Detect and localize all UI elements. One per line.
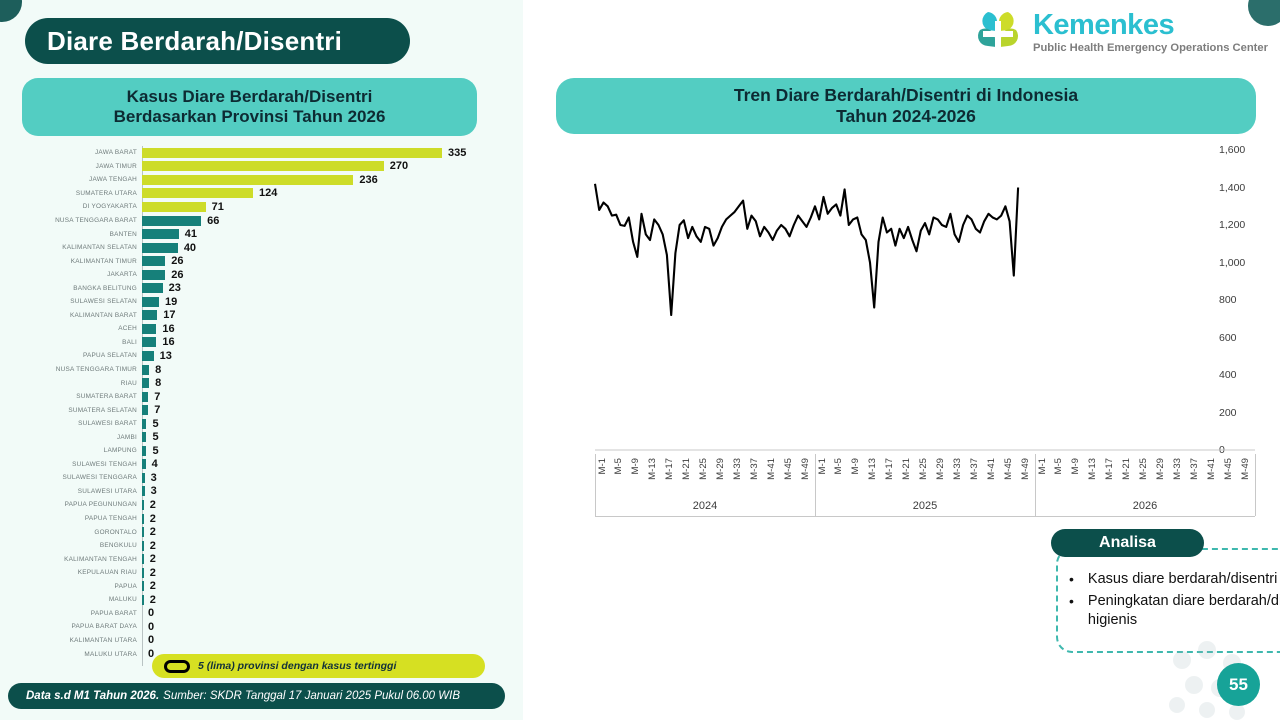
bar-row: SULAWESI UTARA3 — [0, 485, 523, 499]
bar-value-label: 2 — [150, 513, 156, 525]
bar-track: 270 — [142, 160, 523, 174]
x-axis-year-label: 2024 — [595, 500, 815, 512]
analisa-item-text: Kasus diare berdarah/disentri yang terla… — [1088, 570, 1280, 590]
trend-line-path — [595, 184, 1018, 315]
bar-track: 17 — [142, 309, 523, 323]
bar-value-label: 19 — [165, 296, 177, 308]
x-axis-tick-label: M-21 — [901, 458, 912, 480]
bar-fill — [142, 161, 384, 171]
bar-row: KALIMANTAN TIMUR26 — [0, 254, 523, 268]
bar-category-label: SULAWESI BARAT — [0, 420, 142, 427]
bar-fill — [142, 229, 179, 239]
bar-value-label: 7 — [154, 404, 160, 416]
bar-fill — [142, 365, 149, 375]
bar-row: DI YOGYAKARTA71 — [0, 200, 523, 214]
page-number-badge: 55 — [1217, 663, 1260, 706]
decor-circle-top-left — [0, 0, 22, 22]
slide-title-pill: Diare Berdarah/Disentri — [25, 18, 410, 64]
bar-category-label: DI YOGYAKARTA — [0, 203, 142, 210]
x-axis-tick-label: M-29 — [935, 458, 946, 480]
bar-fill — [142, 514, 144, 524]
bar-category-label: PAPUA PEGUNUNGAN — [0, 501, 142, 508]
bar-value-label: 26 — [171, 255, 183, 267]
kemenkes-logo: Kemenkes Public Health Emergency Operati… — [972, 8, 1268, 58]
bar-value-label: 16 — [162, 323, 174, 335]
bar-category-label: PAPUA BARAT DAYA — [0, 623, 142, 630]
logo-name: Kemenkes — [1033, 11, 1268, 40]
bar-track: 8 — [142, 363, 523, 377]
source-normal-text: Sumber: SKDR Tanggal 17 Januari 2025 Puk… — [163, 690, 460, 702]
bar-row: JAWA TENGAH236 — [0, 173, 523, 187]
bar-chart-title-line1: Kasus Diare Berdarah/Disentri — [127, 87, 373, 107]
bar-row: BENGKULU2 — [0, 539, 523, 553]
x-axis-tick-label: M-33 — [732, 458, 743, 480]
x-axis-tick-label: M-45 — [1003, 458, 1014, 480]
bar-fill — [142, 486, 145, 496]
bar-fill — [142, 202, 206, 212]
bar-value-label: 71 — [212, 201, 224, 213]
bar-track: 5 — [142, 417, 523, 431]
x-axis-tick-label: M-25 — [698, 458, 709, 480]
bar-row: SUMATERA SELATAN7 — [0, 403, 523, 417]
bar-category-label: BENGKULU — [0, 542, 142, 549]
bar-row: BALI16 — [0, 336, 523, 350]
bar-category-label: LAMPUNG — [0, 447, 142, 454]
bar-category-label: NUSA TENGGARA BARAT — [0, 217, 142, 224]
analisa-heading-pill: Analisa — [1051, 529, 1204, 557]
bar-fill — [142, 270, 165, 280]
bar-track: 3 — [142, 471, 523, 485]
x-axis-tick-label: M-5 — [1053, 458, 1064, 475]
bar-category-label: GORONTALO — [0, 529, 142, 536]
bar-track: 16 — [142, 336, 523, 350]
bar-value-label: 4 — [152, 458, 158, 470]
bar-track: 2 — [142, 580, 523, 594]
trend-chart-title-pill: Tren Diare Berdarah/Disentri di Indonesi… — [556, 78, 1256, 134]
x-axis-tick-label: M-33 — [952, 458, 963, 480]
bar-row: KALIMANTAN UTARA0 — [0, 634, 523, 648]
bar-value-label: 41 — [185, 228, 197, 240]
bar-category-label: PAPUA — [0, 583, 142, 590]
bar-value-label: 236 — [359, 174, 377, 186]
source-bold-text: Data s.d M1 Tahun 2026. — [26, 690, 159, 702]
bar-value-label: 2 — [150, 580, 156, 592]
trend-chart-title-line1: Tren Diare Berdarah/Disentri di Indonesi… — [734, 85, 1078, 106]
bar-category-label: JAKARTA — [0, 271, 142, 278]
bar-row: JAWA TIMUR270 — [0, 160, 523, 174]
bar-category-label: PAPUA SELATAN — [0, 352, 142, 359]
bar-value-label: 0 — [148, 634, 154, 646]
bar-row: BANTEN41 — [0, 227, 523, 241]
bar-category-label: JAWA BARAT — [0, 149, 142, 156]
bar-row: SULAWESI SELATAN19 — [0, 295, 523, 309]
bar-value-label: 5 — [152, 418, 158, 430]
bar-row: PAPUA PEGUNUNGAN2 — [0, 498, 523, 512]
bar-category-label: MALUKU — [0, 596, 142, 603]
bar-category-label: BANTEN — [0, 231, 142, 238]
bar-fill — [142, 378, 149, 388]
bar-value-label: 13 — [160, 350, 172, 362]
x-axis-tick-label: M-29 — [1155, 458, 1166, 480]
bar-value-label: 66 — [207, 215, 219, 227]
bar-track: 2 — [142, 512, 523, 526]
legend-label: 5 (lima) provinsi dengan kasus tertinggi — [198, 660, 396, 672]
bar-row: ACEH16 — [0, 322, 523, 336]
bar-value-label: 124 — [259, 187, 277, 199]
bar-row: KALIMANTAN BARAT17 — [0, 309, 523, 323]
bar-track: 2 — [142, 539, 523, 553]
bar-category-label: KEPULAUAN RIAU — [0, 569, 142, 576]
x-axis-tick-label: M-49 — [800, 458, 811, 480]
bar-value-label: 2 — [150, 540, 156, 552]
bar-row: GORONTALO2 — [0, 525, 523, 539]
bar-track: 7 — [142, 390, 523, 404]
bar-track: 16 — [142, 322, 523, 336]
legend-swatch-icon — [164, 660, 190, 673]
bar-fill — [142, 310, 157, 320]
bar-track: 26 — [142, 254, 523, 268]
bar-value-label: 8 — [155, 377, 161, 389]
bar-track: 2 — [142, 525, 523, 539]
bar-category-label: BALI — [0, 339, 142, 346]
bar-fill — [142, 595, 144, 605]
bar-category-label: SULAWESI SELATAN — [0, 298, 142, 305]
bar-fill — [142, 541, 144, 551]
bar-fill — [142, 581, 144, 591]
bar-fill — [142, 148, 442, 158]
bar-row: KEPULAUAN RIAU2 — [0, 566, 523, 580]
analisa-item: •Peningkatan diare berdarah/disentri dip… — [1069, 592, 1280, 631]
bar-fill — [142, 527, 144, 537]
bar-value-label: 2 — [150, 594, 156, 606]
bar-category-label: RIAU — [0, 380, 142, 387]
bar-fill — [142, 554, 144, 564]
bar-fill — [142, 243, 178, 253]
bar-value-label: 0 — [148, 621, 154, 633]
bar-fill — [142, 216, 201, 226]
bar-category-label: PAPUA TENGAH — [0, 515, 142, 522]
bar-row: MALUKU2 — [0, 593, 523, 607]
x-axis-tick-label: M-13 — [1087, 458, 1098, 480]
bar-fill — [142, 175, 353, 185]
bar-fill — [142, 405, 148, 415]
bar-category-label: ACEH — [0, 325, 142, 332]
bar-row: BANGKA BELITUNG23 — [0, 281, 523, 295]
x-axis-group-separator — [595, 454, 596, 516]
bar-fill — [142, 297, 159, 307]
analisa-item: •Kasus diare berdarah/disentri yang terl… — [1069, 570, 1280, 590]
bar-value-label: 5 — [152, 445, 158, 457]
x-axis-tick-label: M-17 — [664, 458, 675, 480]
x-axis-tick-label: M-5 — [833, 458, 844, 475]
bar-track: 124 — [142, 187, 523, 201]
x-axis-tick-label: M-9 — [630, 458, 641, 475]
bar-row: JAMBI5 — [0, 430, 523, 444]
bar-row: KALIMANTAN TENGAH2 — [0, 552, 523, 566]
bar-track: 19 — [142, 295, 523, 309]
bar-fill — [142, 432, 146, 442]
bar-track: 5 — [142, 444, 523, 458]
x-axis-tick-label: M-49 — [1240, 458, 1251, 480]
bar-chart-legend: 5 (lima) provinsi dengan kasus tertinggi — [152, 654, 485, 678]
bar-fill — [142, 459, 146, 469]
province-bar-chart: JAWA BARAT335JAWA TIMUR270JAWA TENGAH236… — [0, 146, 523, 666]
bar-fill — [142, 446, 146, 456]
bar-track: 335 — [142, 146, 523, 160]
bar-track: 40 — [142, 241, 523, 255]
x-axis-tick-label: M-5 — [613, 458, 624, 475]
bar-value-label: 2 — [150, 526, 156, 538]
bar-fill — [142, 419, 146, 429]
bar-row: SULAWESI BARAT5 — [0, 417, 523, 431]
bar-fill — [142, 324, 156, 334]
bar-row: JAWA BARAT335 — [0, 146, 523, 160]
bar-category-label: KALIMANTAN TENGAH — [0, 556, 142, 563]
bar-row: LAMPUNG5 — [0, 444, 523, 458]
bar-category-label: MALUKU UTARA — [0, 651, 142, 658]
bar-track: 2 — [142, 552, 523, 566]
bar-track: 236 — [142, 173, 523, 187]
bar-fill — [142, 351, 154, 361]
x-axis-tick-label: M-37 — [1189, 458, 1200, 480]
trend-line-chart: 02004006008001,0001,2001,4001,600M-1M-5M… — [533, 140, 1273, 515]
x-axis-tick-label: M-21 — [1121, 458, 1132, 480]
bar-fill — [142, 500, 144, 510]
bar-fill — [142, 473, 145, 483]
bar-category-label: SULAWESI TENGAH — [0, 461, 142, 468]
bar-track: 2 — [142, 498, 523, 512]
bar-track: 0 — [142, 607, 523, 621]
x-axis-tick-label: M-25 — [1138, 458, 1149, 480]
x-axis-tick-label: M-25 — [918, 458, 929, 480]
x-axis-tick-label: M-37 — [969, 458, 980, 480]
bar-value-label: 7 — [154, 391, 160, 403]
bar-row: PAPUA2 — [0, 580, 523, 594]
trend-line-plot — [533, 140, 1273, 454]
analisa-item-text: Peningkatan diare berdarah/disentri dipi… — [1088, 592, 1280, 631]
logo-subtitle: Public Health Emergency Operations Cente… — [1033, 43, 1268, 54]
x-axis-group-separator — [1255, 454, 1256, 516]
x-axis-tick-label: M-1 — [817, 458, 828, 475]
x-axis-tick-label: M-13 — [867, 458, 878, 480]
bar-chart-title-pill: Kasus Diare Berdarah/Disentri Berdasarka… — [22, 78, 477, 136]
bar-track: 66 — [142, 214, 523, 228]
x-axis-year-label: 2025 — [815, 500, 1035, 512]
x-axis-year-label: 2026 — [1035, 500, 1255, 512]
bar-track: 13 — [142, 349, 523, 363]
bar-value-label: 270 — [390, 160, 408, 172]
bar-category-label: PAPUA BARAT — [0, 610, 142, 617]
bar-track: 26 — [142, 268, 523, 282]
bar-fill — [142, 392, 148, 402]
x-axis-tick-label: M-45 — [783, 458, 794, 480]
bar-value-label: 3 — [151, 485, 157, 497]
bar-row: PAPUA BARAT DAYA0 — [0, 620, 523, 634]
x-axis-group-separator — [1035, 454, 1036, 516]
bar-category-label: SUMATERA UTARA — [0, 190, 142, 197]
x-axis-tick-label: M-33 — [1172, 458, 1183, 480]
bar-fill — [142, 568, 144, 578]
x-axis-tick-label: M-1 — [597, 458, 608, 475]
bar-category-label: JAWA TENGAH — [0, 176, 142, 183]
x-axis-tick-label: M-29 — [715, 458, 726, 480]
bar-fill — [142, 188, 253, 198]
right-panel: Kemenkes Public Health Emergency Operati… — [523, 0, 1280, 720]
x-axis-tick-label: M-41 — [986, 458, 997, 480]
bar-value-label: 40 — [184, 242, 196, 254]
bar-category-label: SUMATERA BARAT — [0, 393, 142, 400]
bar-category-label: SULAWESI TENGGARA — [0, 474, 142, 481]
bar-value-label: 17 — [163, 309, 175, 321]
bar-value-label: 2 — [150, 499, 156, 511]
bar-value-label: 8 — [155, 364, 161, 376]
bar-row: SUMATERA UTARA124 — [0, 187, 523, 201]
bar-track: 2 — [142, 566, 523, 580]
bar-row: NUSA TENGGARA BARAT66 — [0, 214, 523, 228]
trend-chart-title-line2: Tahun 2024-2026 — [836, 106, 976, 127]
page-title: Diare Berdarah/Disentri — [47, 26, 342, 57]
bar-value-label: 2 — [150, 567, 156, 579]
bar-category-label: SULAWESI UTARA — [0, 488, 142, 495]
bar-track: 5 — [142, 430, 523, 444]
x-axis-tick-label: M-13 — [647, 458, 658, 480]
bar-track: 0 — [142, 620, 523, 634]
bar-category-label: KALIMANTAN BARAT — [0, 312, 142, 319]
x-axis-tick-label: M-17 — [884, 458, 895, 480]
bullet-icon: • — [1069, 592, 1074, 631]
bar-fill — [142, 256, 165, 266]
bar-value-label: 5 — [152, 431, 158, 443]
analisa-heading: Analisa — [1099, 534, 1156, 552]
x-axis-tick-label: M-21 — [681, 458, 692, 480]
x-axis-tick-label: M-37 — [749, 458, 760, 480]
bar-track: 8 — [142, 376, 523, 390]
kemenkes-clover-icon — [972, 8, 1024, 58]
bar-track: 41 — [142, 227, 523, 241]
analisa-list: •Kasus diare berdarah/disentri yang terl… — [1069, 570, 1280, 633]
x-axis-tick-label: M-9 — [1070, 458, 1081, 475]
bar-fill — [142, 337, 156, 347]
bar-row: PAPUA BARAT0 — [0, 607, 523, 621]
bar-value-label: 2 — [150, 553, 156, 565]
left-panel: Diare Berdarah/Disentri Kasus Diare Berd… — [0, 0, 523, 720]
bar-track: 7 — [142, 403, 523, 417]
bar-category-label: KALIMANTAN UTARA — [0, 637, 142, 644]
x-axis-bottom-line — [595, 516, 1255, 517]
bar-row: SUMATERA BARAT7 — [0, 390, 523, 404]
bar-track: 0 — [142, 634, 523, 648]
bar-category-label: BANGKA BELITUNG — [0, 285, 142, 292]
x-axis-tick-label: M-45 — [1223, 458, 1234, 480]
bar-chart-title-line2: Berdasarkan Provinsi Tahun 2026 — [114, 107, 386, 127]
bar-row: SULAWESI TENGAH4 — [0, 458, 523, 472]
x-axis-tick-label: M-17 — [1104, 458, 1115, 480]
bar-category-label: KALIMANTAN TIMUR — [0, 258, 142, 265]
bar-value-label: 3 — [151, 472, 157, 484]
bar-category-label: NUSA TENGGARA TIMUR — [0, 366, 142, 373]
bar-track: 4 — [142, 458, 523, 472]
bar-value-label: 26 — [171, 269, 183, 281]
bar-row: PAPUA SELATAN13 — [0, 349, 523, 363]
bar-row: SULAWESI TENGGARA3 — [0, 471, 523, 485]
bar-row: JAKARTA26 — [0, 268, 523, 282]
source-footer: Data s.d M1 Tahun 2026. Sumber: SKDR Tan… — [8, 683, 505, 709]
bar-row: RIAU8 — [0, 376, 523, 390]
bar-category-label: JAMBI — [0, 434, 142, 441]
bar-track: 3 — [142, 485, 523, 499]
x-axis-tick-label: M-41 — [766, 458, 777, 480]
bullet-icon: • — [1069, 570, 1074, 590]
bar-category-label: SUMATERA SELATAN — [0, 407, 142, 414]
x-axis-tick-label: M-49 — [1020, 458, 1031, 480]
bar-row: PAPUA TENGAH2 — [0, 512, 523, 526]
page-number: 55 — [1229, 675, 1248, 695]
bar-row: KALIMANTAN SELATAN40 — [0, 241, 523, 255]
bar-value-label: 0 — [148, 607, 154, 619]
bar-value-label: 23 — [169, 282, 181, 294]
x-axis-tick-label: M-41 — [1206, 458, 1217, 480]
bar-fill — [142, 283, 163, 293]
bar-value-label: 16 — [162, 336, 174, 348]
x-axis-group-separator — [815, 454, 816, 516]
x-axis-tick-label: M-9 — [850, 458, 861, 475]
bar-category-label: JAWA TIMUR — [0, 163, 142, 170]
bar-track: 23 — [142, 281, 523, 295]
bar-category-label: KALIMANTAN SELATAN — [0, 244, 142, 251]
bar-track: 2 — [142, 593, 523, 607]
x-axis-tick-label: M-1 — [1037, 458, 1048, 475]
bar-value-label: 335 — [448, 147, 466, 159]
bar-row: NUSA TENGGARA TIMUR8 — [0, 363, 523, 377]
bar-track: 71 — [142, 200, 523, 214]
